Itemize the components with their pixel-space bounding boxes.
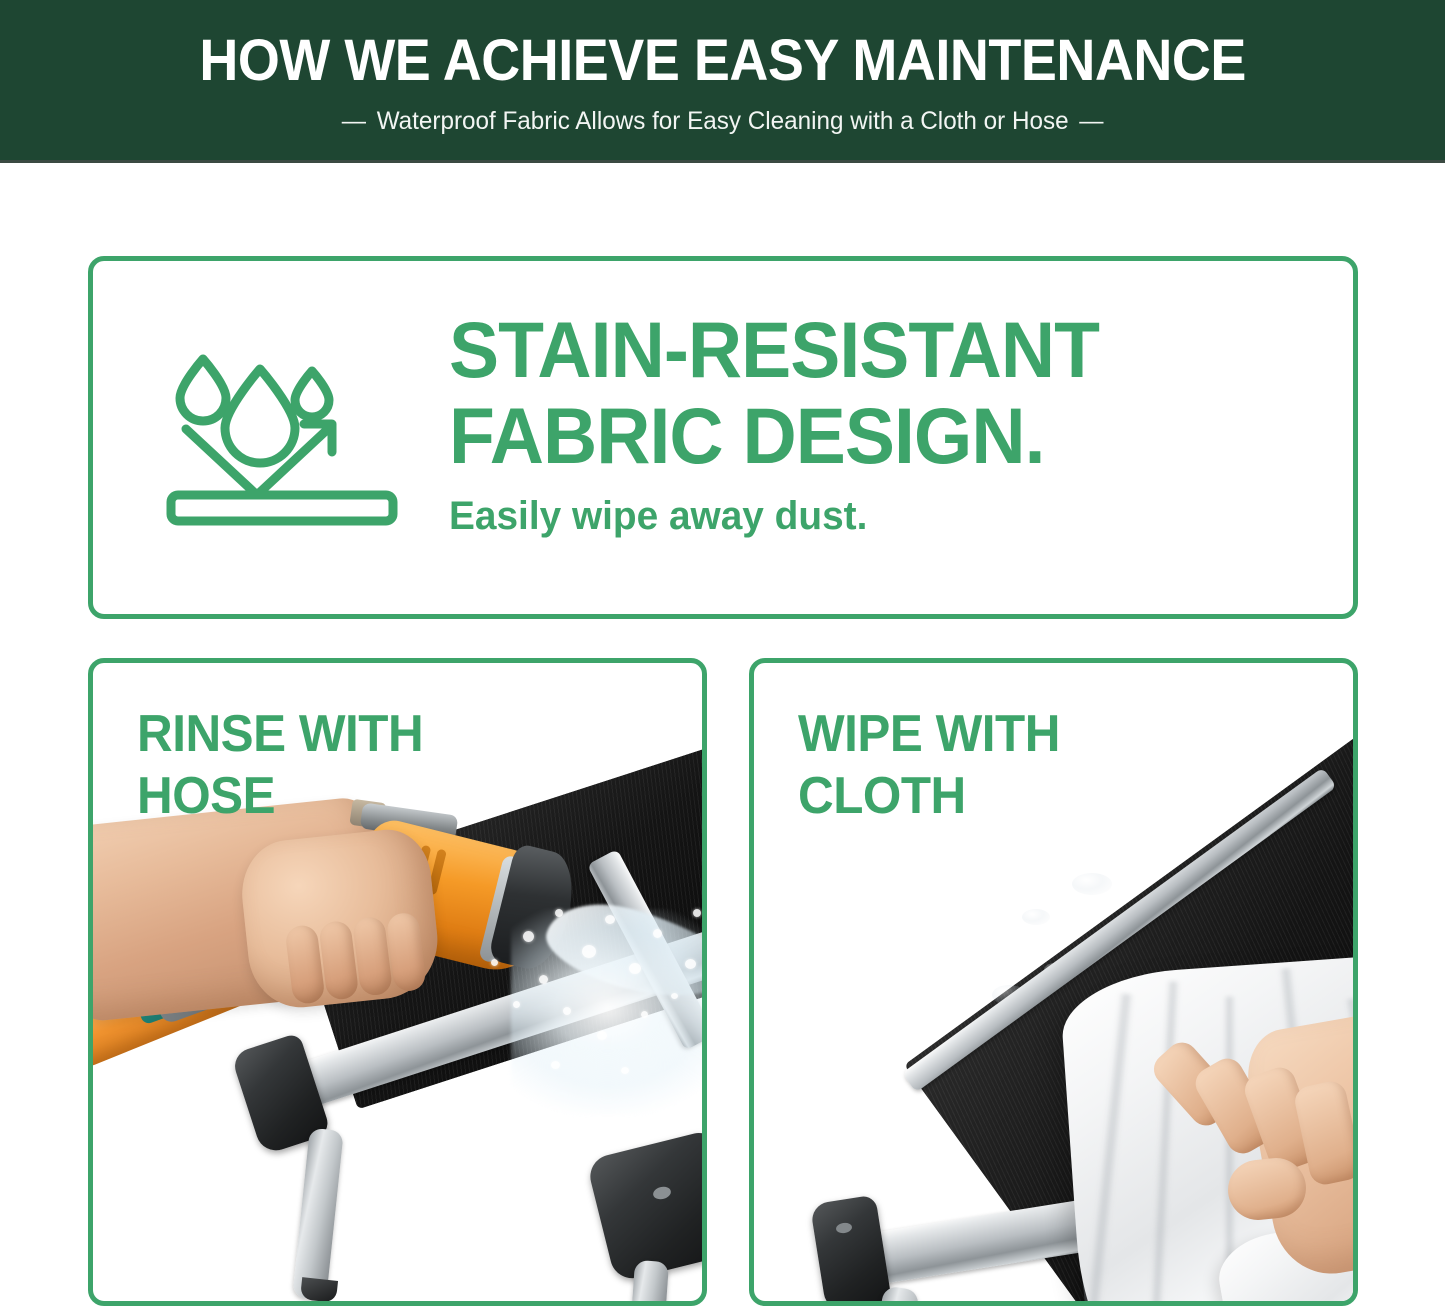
feature-card-stain-resistant: STAIN-RESISTANT FABRIC DESIGN. Easily wi… [88,256,1358,619]
page-header-banner: HOW WE ACHIEVE EASY MAINTENANCE —Waterpr… [0,0,1445,160]
feature-text-block: STAIN-RESISTANT FABRIC DESIGN. Easily wi… [449,307,1289,539]
rinse-photo [93,663,702,1301]
feature-heading-line2: FABRIC DESIGN. [449,393,1247,479]
page-subtitle: —Waterproof Fabric Allows for Easy Clean… [331,106,1114,136]
subtitle-dash-right: — [1068,106,1114,136]
wipe-photo [754,663,1353,1301]
subtitle-dash-left: — [331,106,377,136]
water-droplet-mark [1072,873,1112,895]
water-repellent-fabric-icon [156,323,408,545]
cot-corner-cap-left [810,1195,892,1301]
feature-heading-line1: STAIN-RESISTANT [449,307,1247,393]
subtitle-text: Waterproof Fabric Allows for Easy Cleani… [377,107,1069,135]
banner-underline [0,160,1445,163]
step-card-wipe-with-cloth: WIPE WITH CLOTH [749,658,1358,1306]
water-droplet-mark [1022,909,1050,925]
step-card-rinse-with-hose: RINSE WITH HOSE [88,658,707,1306]
feature-subheading: Easily wipe away dust. [449,493,1264,539]
page-title: HOW WE ACHIEVE EASY MAINTENANCE [199,30,1245,92]
water-droplets [93,663,702,1301]
